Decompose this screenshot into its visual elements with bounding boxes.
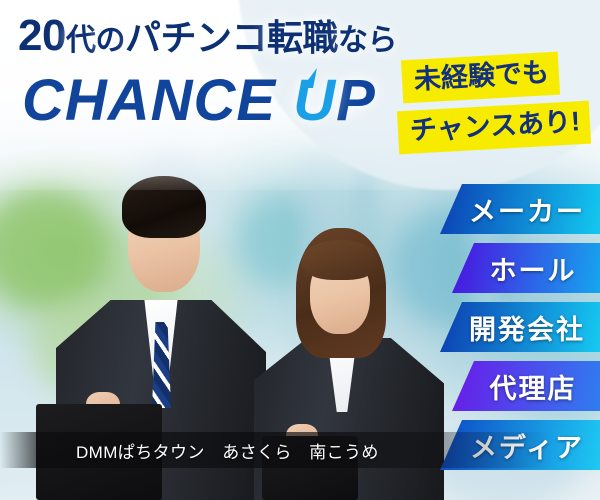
headline-word: 転職 [267, 17, 338, 58]
headline-katakana: パチンコ [125, 17, 267, 58]
category-button-4[interactable]: 代理店 [452, 361, 600, 411]
category-label: メーカー [469, 190, 585, 229]
page-title: 20代のパチンコ転職なら [18, 14, 397, 58]
category-button-1[interactable]: メーカー [440, 184, 600, 234]
recruitment-banner[interactable]: 20代のパチンコ転職なら CHANCE UP 未経験でも チャンスあり! メーカ… [0, 0, 600, 500]
category-label: 代理店 [490, 367, 577, 406]
credit-text: DMMぱちタウン あさくら 南こうめ [76, 438, 379, 463]
logo-chance-text: CHANCE [22, 68, 276, 133]
credit-bar: DMMぱちタウン あさくら 南こうめ [0, 432, 600, 468]
headline-particle: の [95, 24, 125, 57]
category-button-3[interactable]: 開発会社 [440, 302, 600, 352]
category-label: ホール [490, 249, 577, 288]
headline-number: 20 [18, 11, 66, 60]
category-label: 開発会社 [469, 308, 585, 347]
logo-u-letter: U [293, 72, 336, 130]
badge-line-1: 未経験でも [401, 52, 560, 104]
brand-logo: CHANCE UP [22, 72, 376, 130]
headline-kanji: 代 [66, 24, 96, 57]
headline-tail: なら [338, 24, 397, 57]
logo-p-letter: P [336, 68, 376, 133]
category-button-2[interactable]: ホール [452, 243, 600, 293]
